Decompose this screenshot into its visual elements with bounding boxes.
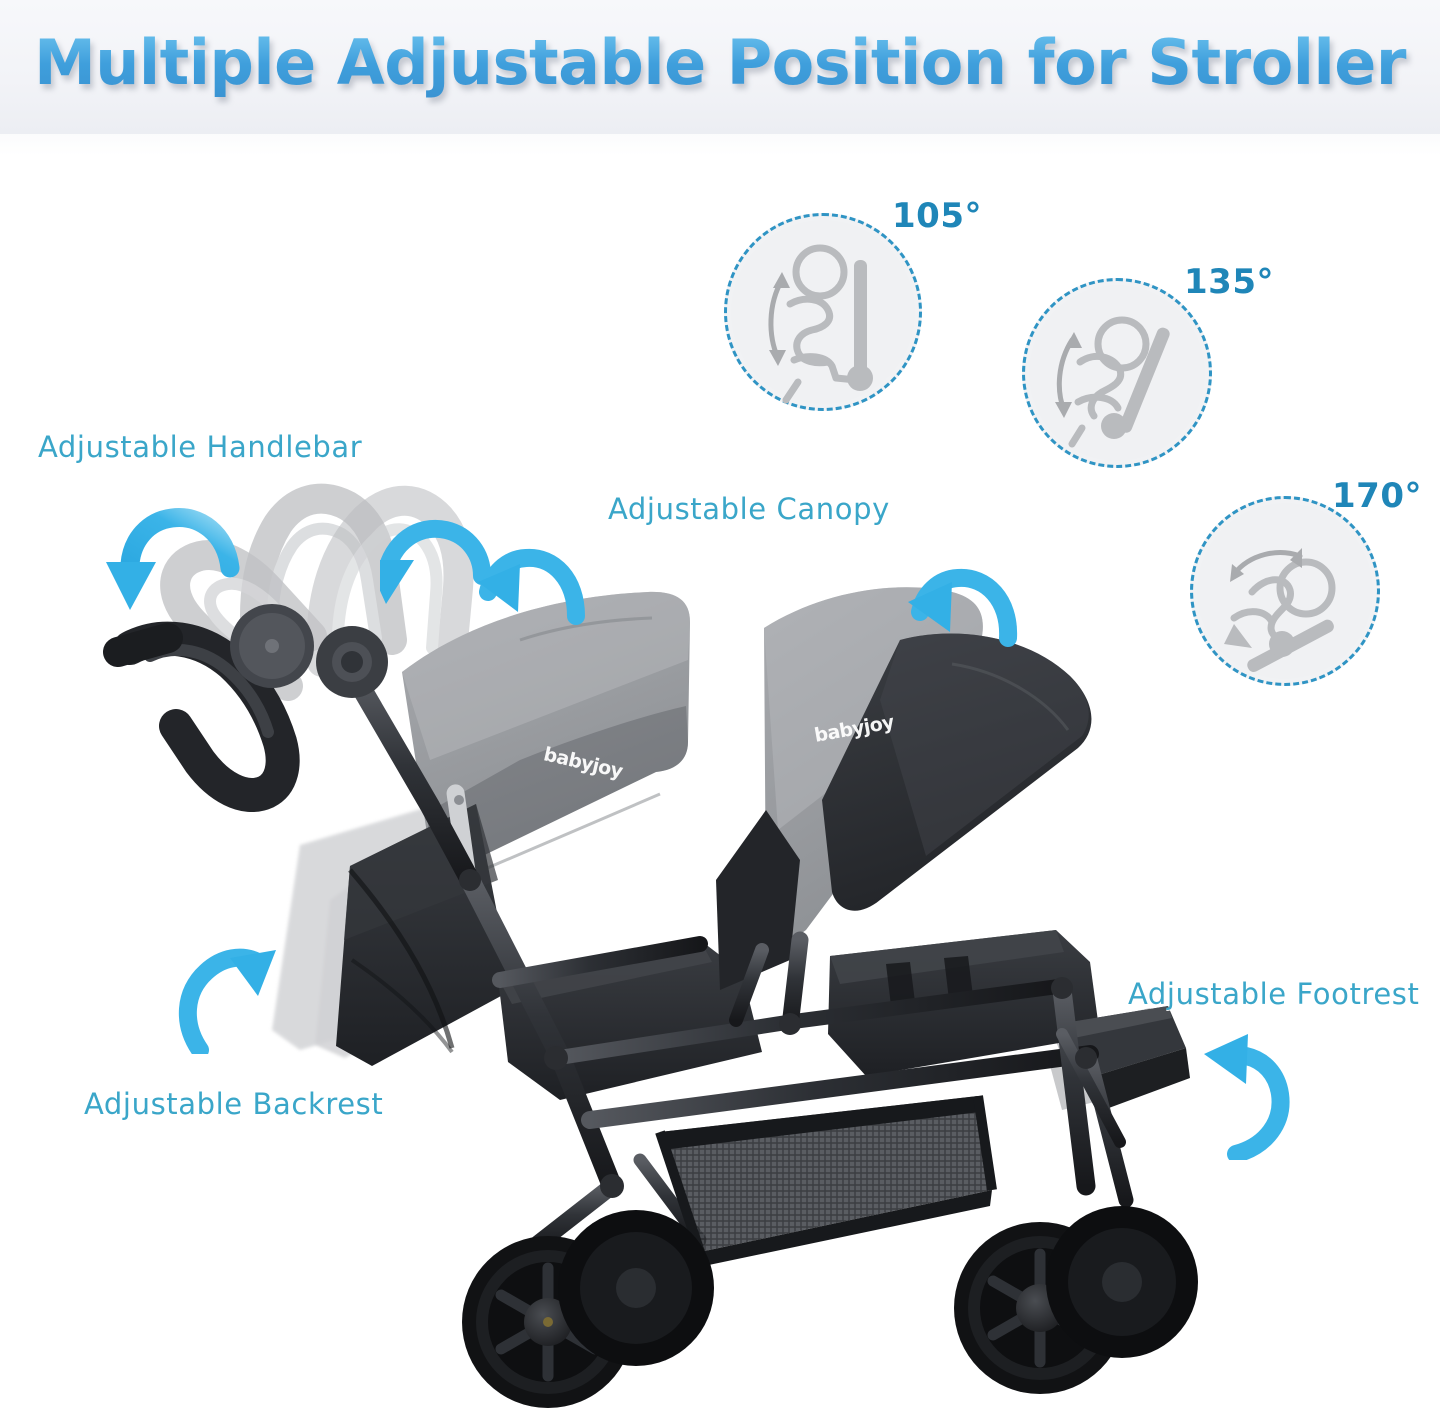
front-wheel-rear-pair <box>558 1210 714 1366</box>
stroller-illustration <box>0 0 1440 1412</box>
label-adjustable-footrest: Adjustable Footrest <box>1128 977 1419 1011</box>
angle-badge-135: 135° <box>1022 262 1272 470</box>
angle-value-105: 105° <box>892 196 982 236</box>
label-adjustable-backrest: Adjustable Backrest <box>84 1087 383 1121</box>
canopy-arrow-rear-icon <box>902 548 1024 660</box>
backrest-arrow-icon <box>166 928 290 1054</box>
angle-value-135: 135° <box>1184 262 1274 302</box>
angle-badge-170: 170° <box>1190 476 1440 688</box>
footrest-arrow-icon <box>1184 1028 1312 1160</box>
canopy-arrow-front-icon <box>472 530 594 642</box>
rear-wheel-pair <box>1046 1206 1198 1358</box>
handlebar-arrow-left-icon <box>104 498 244 624</box>
angle-badge-105: 105° <box>724 196 984 411</box>
label-adjustable-canopy: Adjustable Canopy <box>608 492 890 526</box>
infographic-canvas: Multiple Adjustable Position for Strolle… <box>0 0 1440 1412</box>
angle-value-170: 170° <box>1332 476 1422 516</box>
storage-basket <box>660 1096 992 1266</box>
label-adjustable-handlebar: Adjustable Handlebar <box>38 430 362 464</box>
